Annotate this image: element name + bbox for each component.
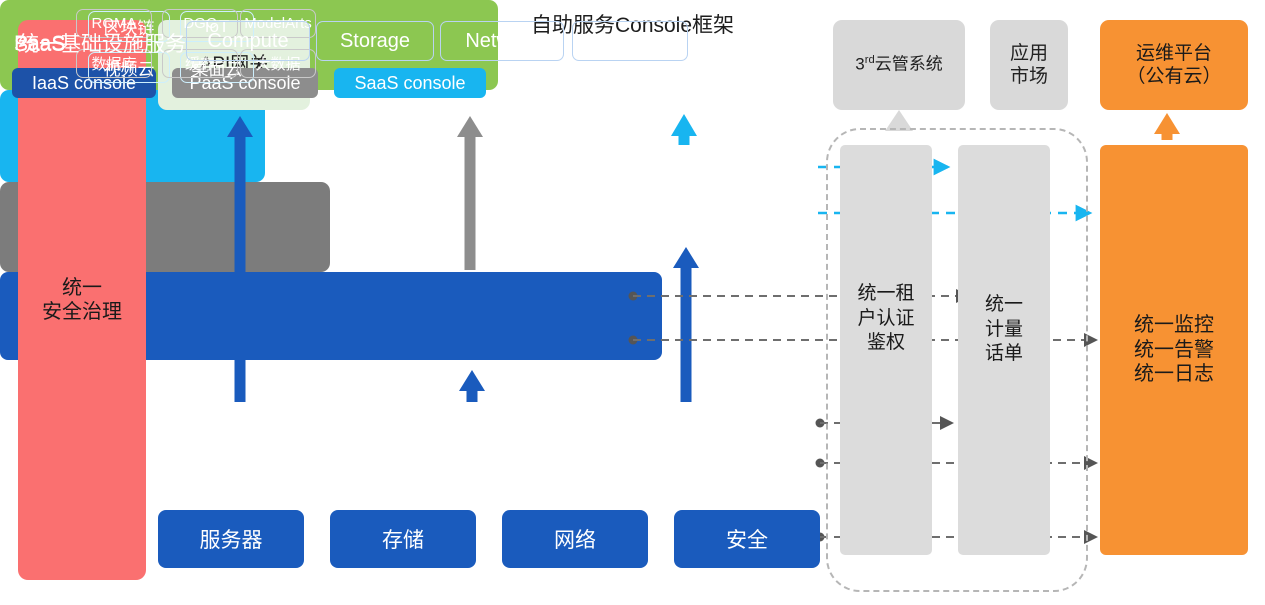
infra-chip-network[interactable]: Network [440,21,564,61]
unified-monitoring-panel[interactable]: 统一监控 统一告警 统一日志 [1100,145,1248,555]
bottom-box-storage[interactable]: 存储 [330,510,476,568]
ordinal-suffix: rd [865,54,875,66]
saas-console-chip[interactable]: SaaS console [334,68,486,98]
app-market-label: 应用 市场 [1010,42,1048,88]
arrow-saas-to-console [671,114,697,145]
security-governance-panel[interactable]: 统一 安全治理 [18,20,146,580]
arrow-infra-to-saas [673,247,699,402]
tenant-auth-column[interactable]: 统一租 户认证 鉴权 [840,145,932,555]
bottom-box-network[interactable]: 网络 [502,510,648,568]
bottom-box-server[interactable]: 服务器 [158,510,304,568]
third-party-cloud-mgmt-label: 3rd云管系统 [855,54,942,75]
unified-infrastructure-label: 统一基础设施服务 [18,28,186,58]
unified-monitoring-label: 统一监控 统一告警 统一日志 [1134,313,1214,386]
infra-chip-cce[interactable]: CCE [572,21,688,61]
ops-platform-label: 运维平台 （公有云） [1126,42,1221,88]
arrow-paas-to-console [457,116,483,270]
third-party-cloud-mgmt-box[interactable]: 3rd云管系统 [833,20,965,110]
infra-chip-storage[interactable]: Storage [316,21,434,61]
architecture-diagram: 统一 安全治理 API网关 自助服务Console框架 IaaS console… [0,0,1265,605]
bottom-box-security[interactable]: 安全 [674,510,820,568]
app-market-box[interactable]: 应用 市场 [990,20,1068,110]
security-governance-label: 统一 安全治理 [42,276,122,325]
infra-chip-compute[interactable]: Compute [186,21,310,61]
metering-billing-column[interactable]: 统一 计量 话单 [958,145,1050,555]
tenant-auth-label: 统一租 户认证 鉴权 [840,282,932,356]
arrow-infra-to-paas [459,370,485,402]
metering-billing-label: 统一 计量 话单 [958,293,1050,367]
arrow-to-ops-platform [1154,113,1180,140]
ops-platform-box[interactable]: 运维平台 （公有云） [1100,20,1248,110]
